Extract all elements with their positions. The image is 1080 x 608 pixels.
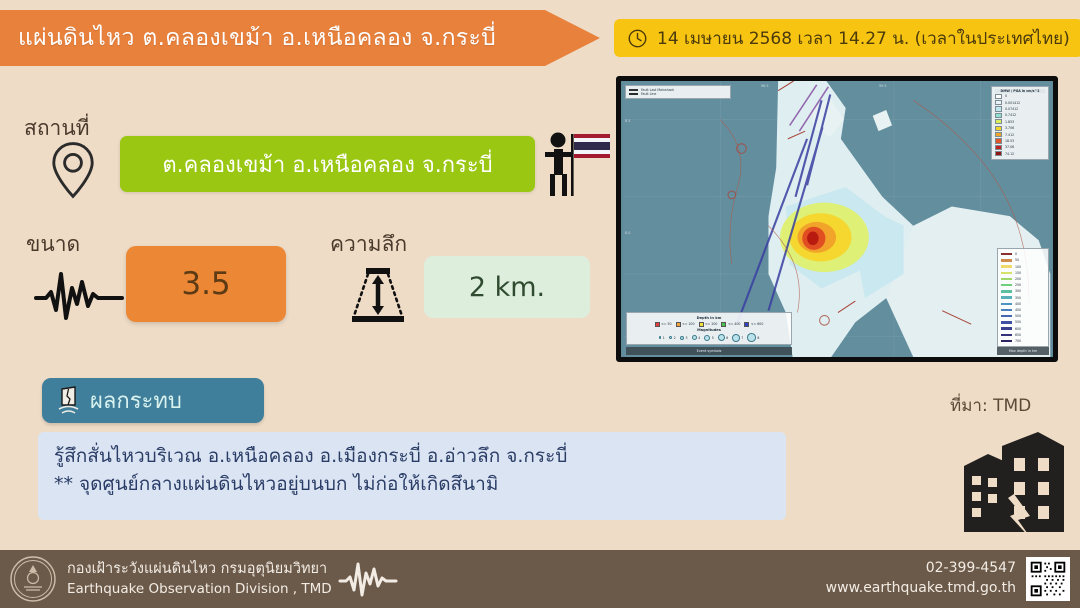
pga-swatch-icon xyxy=(995,100,1002,105)
depth-scale-row: 700 xyxy=(1001,338,1045,344)
depth-swatch-icon xyxy=(1001,259,1012,261)
depth-swatch-icon xyxy=(1001,315,1012,317)
depth-label: ความลึก xyxy=(330,228,407,261)
pga-swatch-icon xyxy=(995,138,1002,143)
fault-legend-row: Fault Line xyxy=(629,92,727,96)
person-with-thai-flag-icon xyxy=(536,130,614,198)
magnitude-symbol-circle-icon xyxy=(680,336,684,340)
magnitude-legend-header: Magnitudes xyxy=(630,328,788,332)
magnitude-chip: 3.5 xyxy=(126,246,286,322)
grid-label: 8.5 xyxy=(625,119,630,123)
depth-swatch-icon xyxy=(1001,296,1012,298)
magnitude-symbol-item: 8 xyxy=(747,333,759,342)
magnitude-symbol-circle-icon xyxy=(669,336,672,339)
pga-legend: DMW / PGA in cm/s^2 00.0014120.074120.74… xyxy=(991,86,1049,160)
depth-scale-value: 0 xyxy=(1015,252,1017,256)
grid-label: 99.5 xyxy=(879,84,887,88)
depth-scale-legend: 0501001502002503003504004505005506006507… xyxy=(997,248,1049,347)
depth-scale-value: 300 xyxy=(1015,289,1021,293)
header-banner: แผ่นดินไหว ต.คลองเขม้า อ.เหนือคลอง จ.กระ… xyxy=(0,10,600,66)
magnitude-symbol-label: 1 xyxy=(663,336,665,340)
magnitude-symbol-item: 3 xyxy=(680,333,688,342)
magnitude-symbol-item: 1 xyxy=(659,333,665,342)
shakemap-panel[interactable]: 98.5 99.5 8.5 8.0 Fault Last Mainshock F… xyxy=(616,76,1058,362)
location-value: ต.คลองเขม้า อ.เหนือคลอง จ.กระบี่ xyxy=(162,147,492,182)
depth-symbol-item: <= 50 xyxy=(655,322,672,327)
impact-badge: ผลกระทบ xyxy=(42,378,264,423)
fault-line-swatch-icon xyxy=(629,93,638,95)
cracked-buildings-watermark-icon xyxy=(958,428,1070,540)
magnitude-symbol-item: 6 xyxy=(718,333,728,342)
depth-scale-value: 450 xyxy=(1015,308,1021,312)
magnitude-symbol-circle-icon xyxy=(704,335,710,341)
depth-swatch-icon xyxy=(1001,253,1012,255)
depth-scale-value: 350 xyxy=(1015,296,1021,300)
magnitude-value: 3.5 xyxy=(181,266,230,302)
depth-scale-value: 400 xyxy=(1015,302,1021,306)
depth-arrow-icon xyxy=(346,262,410,326)
depth-scale-value: 50 xyxy=(1015,258,1019,262)
clock-icon xyxy=(627,28,648,49)
depth-symbol-label: <= 50 xyxy=(661,322,671,326)
footer-org: กองเฝ้าระวังแผ่นดินไหว กรมอุตุนิยมวิทยา … xyxy=(67,560,332,598)
pga-legend-value: 0.07412 xyxy=(1005,107,1018,111)
grid-label: 98.5 xyxy=(761,84,769,88)
depth-scale-value: 100 xyxy=(1015,265,1021,269)
footer-bar: กองเฝ้าระวังแผ่นดินไหว กรมอุตุนิยมวิทยา … xyxy=(0,550,1080,608)
depth-swatch-icon xyxy=(1001,265,1012,267)
depth-symbol-item: <= 400 xyxy=(721,322,740,327)
depth-chip: 2 km. xyxy=(424,256,590,318)
depth-scale-status: Max depth in km xyxy=(997,347,1049,355)
magnitude-symbol-label: 8 xyxy=(757,336,759,340)
qr-code-icon[interactable] xyxy=(1026,557,1070,601)
depth-swatch-icon xyxy=(1001,340,1012,342)
pga-legend-value: 18.53 xyxy=(1005,139,1014,143)
depth-symbol-item: <= 600 xyxy=(744,322,763,327)
depth-symbol-label: <= 400 xyxy=(728,322,740,326)
impact-line-1: รู้สึกสั่นไหวบริเวณ อ.เหนือคลอง อ.เมืองก… xyxy=(54,443,770,471)
pga-legend-value: 0 xyxy=(1005,94,1007,98)
depth-scale-value: 150 xyxy=(1015,271,1021,275)
depth-scale-value: 250 xyxy=(1015,283,1021,287)
magnitude-symbol-circle-icon xyxy=(718,334,725,341)
depth-swatch-icon xyxy=(1001,284,1012,286)
magnitude-symbol-item: 7 xyxy=(732,333,743,342)
pga-swatch-icon xyxy=(995,113,1002,118)
depth-swatch-icon xyxy=(1001,334,1012,336)
map-pin-icon xyxy=(44,140,102,200)
depth-symbol-item: <= 200 xyxy=(699,322,718,327)
pga-swatch-icon xyxy=(995,145,1002,150)
magnitude-symbol-circle-icon xyxy=(732,334,740,342)
pga-legend-value: 1.853 xyxy=(1005,120,1014,124)
impact-text-box: รู้สึกสั่นไหวบริเวณ อ.เหนือคลอง อ.เมืองก… xyxy=(38,432,786,520)
magnitude-symbol-label: 4 xyxy=(698,336,700,340)
depth-swatch-icon xyxy=(1001,309,1012,311)
pga-swatch-icon xyxy=(995,119,1002,124)
magnitude-symbol-label: 3 xyxy=(685,336,687,340)
pga-legend-value: 37.06 xyxy=(1005,145,1014,149)
grid-label: 8.0 xyxy=(625,231,630,235)
depth-symbol-label: <= 100 xyxy=(682,322,694,326)
depth-swatch-icon xyxy=(1001,321,1012,323)
pga-swatch-icon xyxy=(995,94,1002,99)
cracked-building-icon xyxy=(55,386,82,416)
magnitude-symbol-label: 7 xyxy=(741,336,743,340)
pga-legend-value: 7.412 xyxy=(1005,133,1014,137)
depth-symbol-swatch-icon xyxy=(655,322,660,327)
magnitude-symbol-label: 6 xyxy=(726,336,728,340)
magnitude-symbol-label: 2 xyxy=(674,336,676,340)
depth-legend-header: Depth in km xyxy=(630,316,788,320)
depth-symbol-label: <= 600 xyxy=(751,322,763,326)
depth-scale-value: 700 xyxy=(1015,339,1021,343)
event-symbols-legend: Depth in km <= 50<= 100<= 200<= 400<= 60… xyxy=(626,312,792,345)
depth-scale-value: 500 xyxy=(1015,314,1021,318)
pga-swatch-icon xyxy=(995,126,1002,131)
pga-legend-value: 3.706 xyxy=(1005,126,1014,130)
event-symbols-status: Event symbols xyxy=(626,347,792,355)
footer-website[interactable]: www.earthquake.tmd.go.th xyxy=(826,579,1016,599)
pga-legend-header: DMW / PGA in cm/s^2 xyxy=(995,89,1045,93)
footer-phone: 02-399-4547 xyxy=(826,559,1016,579)
seismograph-wave-icon xyxy=(338,559,400,599)
map-layers-control[interactable]: Fault Last Mainshock Fault Line xyxy=(625,85,731,99)
infographic-page: แผ่นดินไหว ต.คลองเขม้า อ.เหนือคลอง จ.กระ… xyxy=(0,0,1080,608)
pga-swatch-icon xyxy=(995,106,1002,111)
pga-legend-value: 74.12 xyxy=(1005,152,1014,156)
magnitude-symbol-item: 4 xyxy=(692,333,701,342)
datetime-chip: 14 เมษายน 2568 เวลา 14.27 น. (เวลาในประเ… xyxy=(614,19,1080,57)
depth-swatch-icon xyxy=(1001,327,1012,329)
magnitude-symbol-item: 2 xyxy=(669,333,676,342)
footer-contact-group: 02-399-4547 www.earthquake.tmd.go.th xyxy=(826,557,1080,601)
magnitude-symbol-circle-icon xyxy=(659,336,662,339)
magnitude-symbol-item: 5 xyxy=(704,333,714,342)
pga-swatch-icon xyxy=(995,151,1002,156)
depth-value: 2 km. xyxy=(469,272,545,303)
pga-legend-row: 74.12 xyxy=(995,151,1045,157)
location-section: สถานที่ ต.คลองเขม้า อ.เหนือคลอง จ.กระบี่ xyxy=(20,112,610,204)
depth-symbol-swatch-icon xyxy=(721,322,726,327)
depth-scale-value: 600 xyxy=(1015,327,1021,331)
datetime-text: 14 เมษายน 2568 เวลา 14.27 น. (เวลาในประเ… xyxy=(657,25,1070,52)
impact-badge-label: ผลกระทบ xyxy=(90,383,182,418)
impact-line-2: ** จุดศูนย์กลางแผ่นดินไหวอยู่บนบก ไม่ก่อ… xyxy=(54,471,770,499)
pga-swatch-icon xyxy=(995,132,1002,137)
magnitude-label: ขนาด xyxy=(26,228,80,261)
source-note: ที่มา: TMD xyxy=(950,392,1031,419)
pga-legend-value: 0.7412 xyxy=(1005,113,1016,117)
tmd-official-seal-icon xyxy=(10,556,56,602)
depth-swatch-icon xyxy=(1001,303,1012,305)
depth-symbol-swatch-icon xyxy=(744,322,749,327)
page-title: แผ่นดินไหว ต.คลองเขม้า อ.เหนือคลอง จ.กระ… xyxy=(0,20,496,56)
depth-swatch-icon xyxy=(1001,272,1012,274)
depth-scale-value: 650 xyxy=(1015,333,1021,337)
pga-legend-value: 0.001412 xyxy=(1005,101,1020,105)
map-canvas[interactable]: 98.5 99.5 8.5 8.0 Fault Last Mainshock F… xyxy=(621,81,1053,357)
depth-symbol-item: <= 100 xyxy=(676,322,695,327)
magnitude-symbol-circle-icon xyxy=(747,333,756,342)
depth-symbol-swatch-icon xyxy=(699,322,704,327)
magnitude-symbol-circle-icon xyxy=(692,335,697,340)
footer-contact: 02-399-4547 www.earthquake.tmd.go.th xyxy=(826,559,1016,598)
layer-checkbox-icon[interactable] xyxy=(629,89,638,91)
magnitude-symbol-label: 5 xyxy=(712,336,714,340)
footer-org-th: กองเฝ้าระวังแผ่นดินไหว กรมอุตุนิยมวิทยา xyxy=(67,560,332,580)
metrics-section: ขนาด 3.5 ความลึก 2 km. xyxy=(20,228,610,338)
footer-org-en: Earthquake Observation Division , TMD xyxy=(67,580,332,598)
depth-symbol-label: <= 200 xyxy=(705,322,717,326)
depth-scale-value: 550 xyxy=(1015,320,1021,324)
depth-swatch-icon xyxy=(1001,290,1012,292)
location-chip: ต.คลองเขม้า อ.เหนือคลอง จ.กระบี่ xyxy=(120,136,535,192)
seismograph-wave-icon xyxy=(34,264,128,322)
depth-swatch-icon xyxy=(1001,278,1012,280)
depth-symbol-swatch-icon xyxy=(676,322,681,327)
depth-scale-value: 200 xyxy=(1015,277,1021,281)
fault-legend-label: Fault Line xyxy=(641,92,656,96)
